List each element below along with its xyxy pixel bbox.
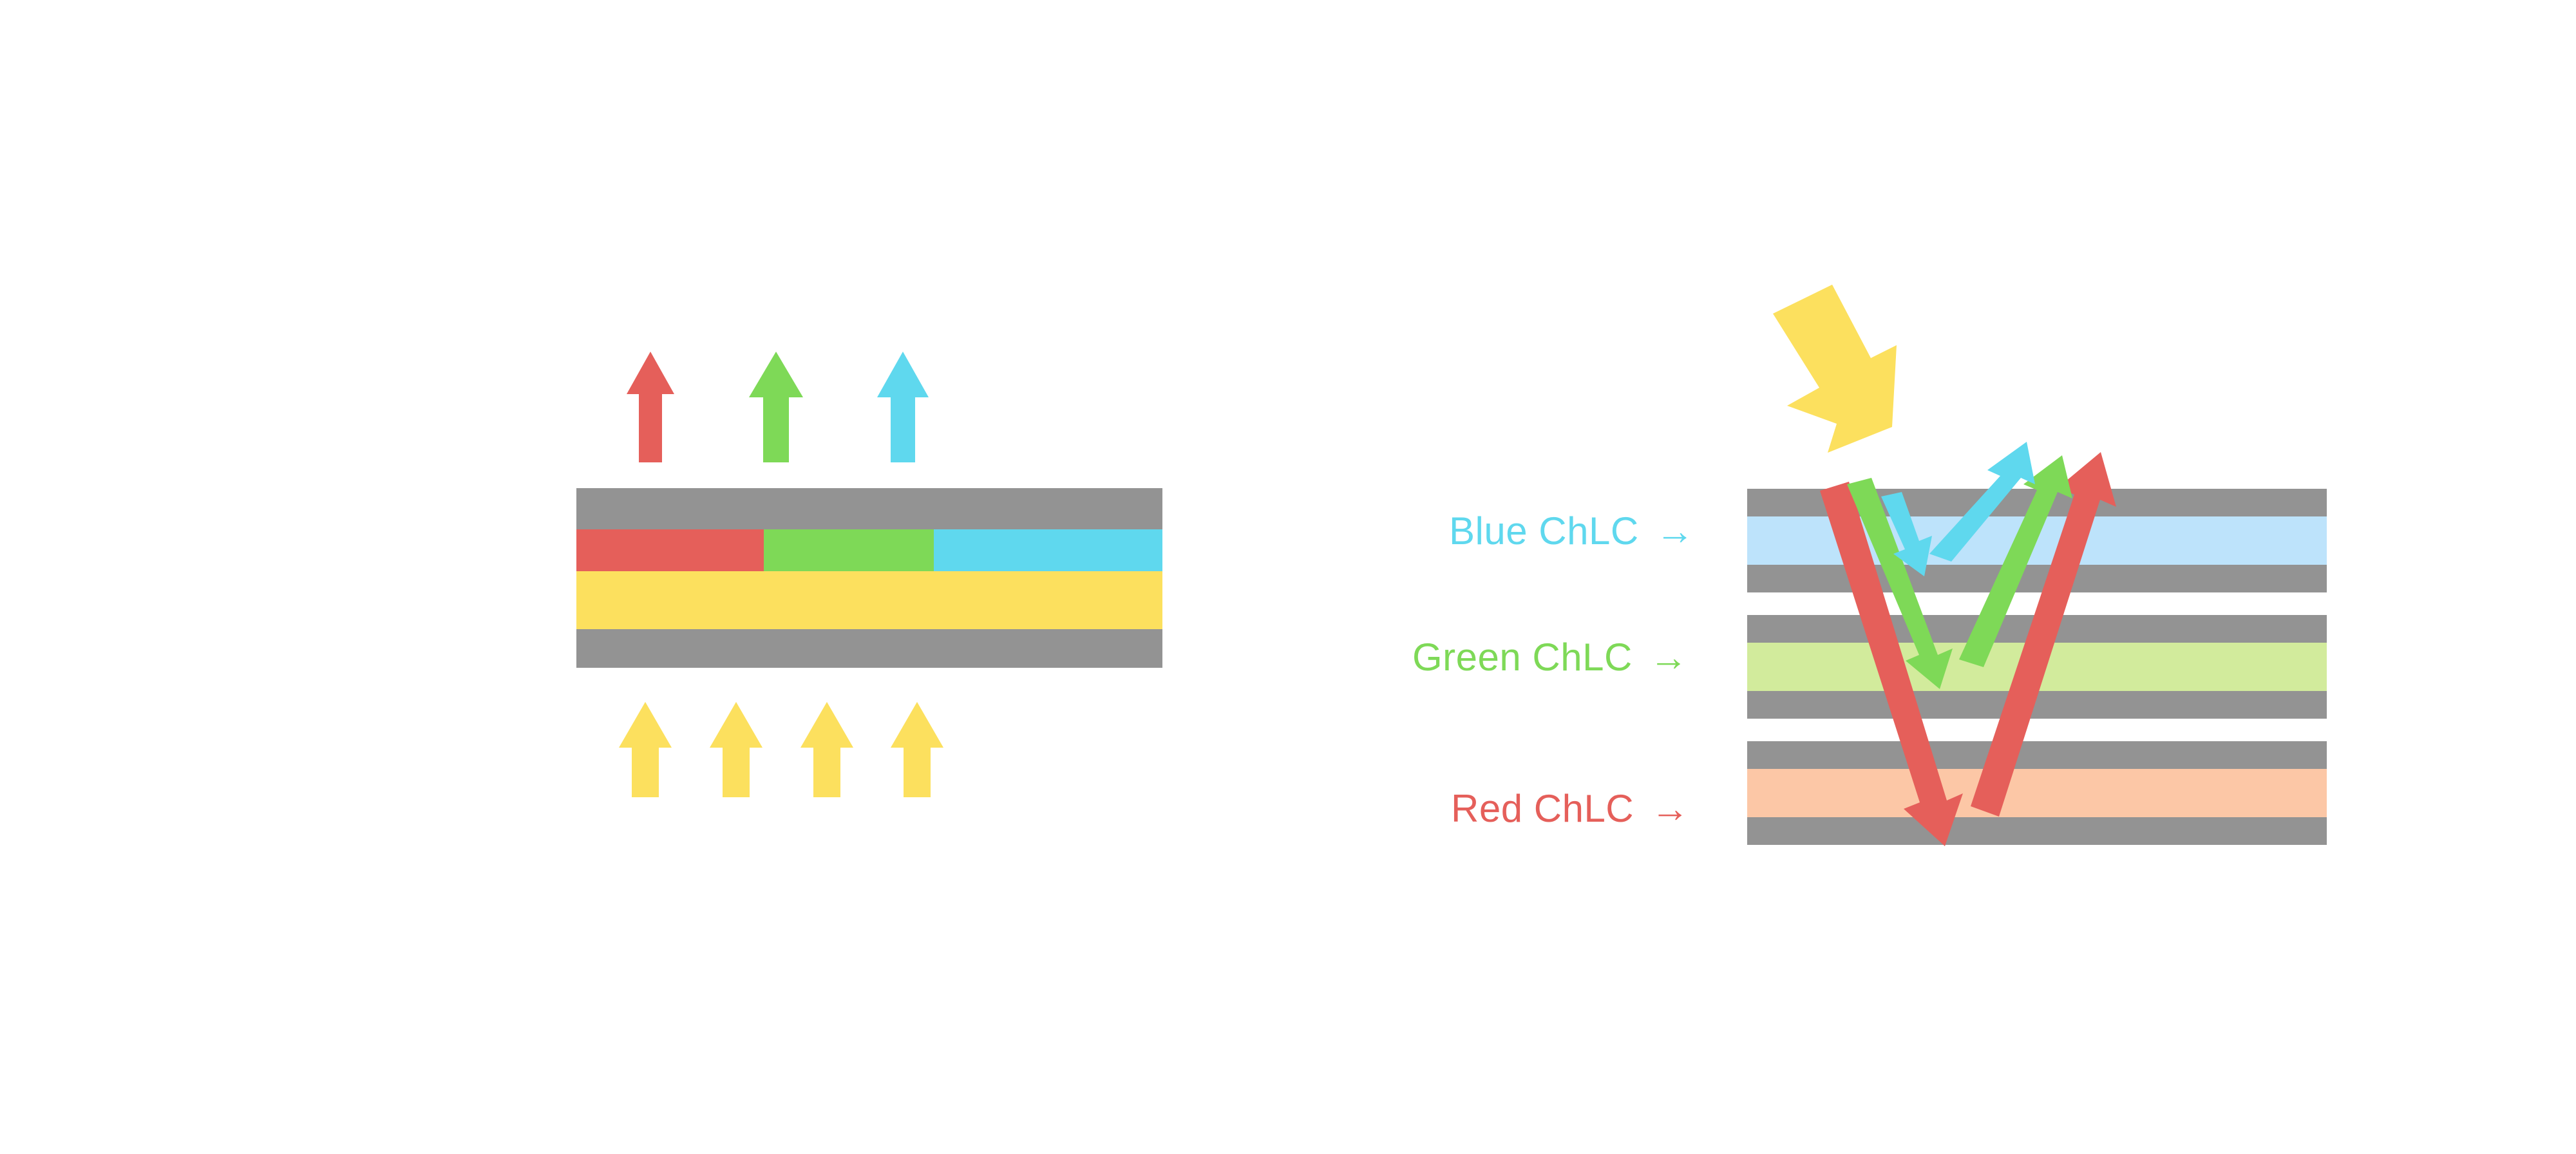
green-chlc-label: Green ChLC→	[1412, 638, 1688, 677]
incident-light-arrow	[1773, 285, 1897, 453]
red-stack-top-electrode	[1747, 741, 2327, 769]
blue-chlc-label: Blue ChLC→	[1449, 512, 1694, 551]
blue-chlc-label-arrow-icon: →	[1656, 509, 1695, 553]
blue-chlc-label-text: Blue ChLC	[1449, 509, 1639, 553]
red-chlc-label: Red ChLC→	[1451, 790, 1690, 828]
red-chlc-label-arrow-icon: →	[1651, 787, 1690, 830]
green-chlc-label-text: Green ChLC	[1412, 636, 1633, 679]
red-chlc-stack	[1747, 741, 2327, 845]
blue-stack-bottom-electrode	[1747, 565, 2327, 592]
reflective-stack-panel	[0, 0, 2576, 1154]
green-chlc-label-arrow-icon: →	[1649, 636, 1689, 679]
red-stack-bottom-electrode	[1747, 817, 2327, 845]
diagram-canvas: Blue ChLC→ Green ChLC→ Red ChLC→	[0, 0, 2576, 1154]
red-chlc-layer	[1747, 769, 2327, 817]
red-chlc-label-text: Red ChLC	[1451, 787, 1634, 830]
